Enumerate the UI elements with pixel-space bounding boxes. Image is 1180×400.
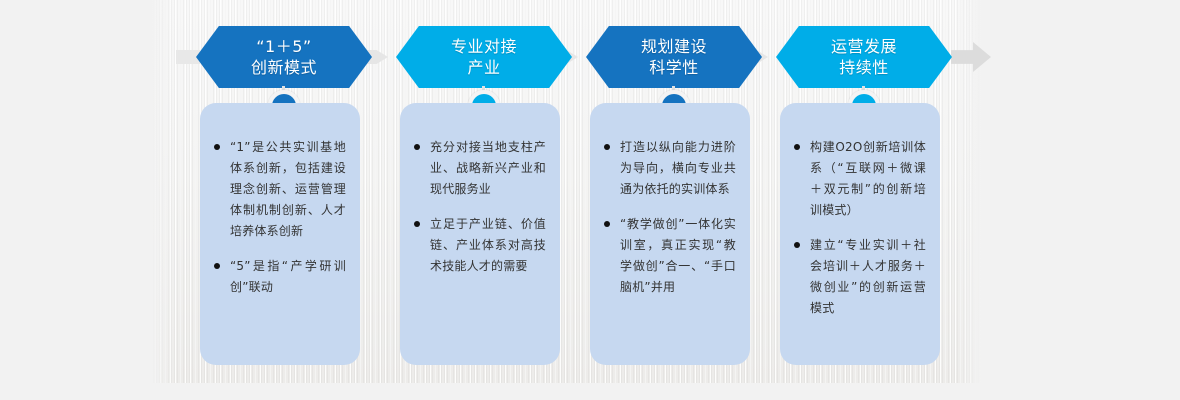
list-item: “教学做创”一体化实训室，真正实现“教学做创”合一、“手口脑机”并用 bbox=[600, 214, 736, 298]
list-item: “5”是指“产学研训创”联动 bbox=[210, 256, 346, 298]
bullet-dot-icon bbox=[214, 144, 220, 150]
stage-header-2-line-1: 专业对接 bbox=[451, 36, 517, 57]
stage-card-3: 打造以纵向能力进阶为导向，横向专业共通为依托的实训体系 “教学做创”一体化实训室… bbox=[590, 103, 750, 365]
bullet-dot-icon bbox=[604, 221, 610, 227]
stage-header-3[interactable]: 规划建设 科学性 bbox=[586, 26, 762, 88]
bullet-dot-icon bbox=[214, 263, 220, 269]
bullet-text: 构建O2O创新培训体系（“互联网＋微课＋双元制”的创新培训模式） bbox=[810, 140, 926, 217]
stage-card-3-bullet-list: 打造以纵向能力进阶为导向，横向专业共通为依托的实训体系 “教学做创”一体化实训室… bbox=[600, 137, 736, 298]
stage-card-2-bullet-list: 充分对接当地支柱产业、战略新兴产业和现代服务业 立足于产业链、价值链、产业体系对… bbox=[410, 137, 546, 277]
stage-card-1: “1”是公共实训基地体系创新，包括建设理念创新、运营管理体制机制创新、人才培养体… bbox=[200, 103, 360, 365]
list-item: 建立“专业实训＋社会培训＋人才服务＋微创业”的创新运营模式 bbox=[790, 235, 926, 319]
stage-header-2-line-2: 产业 bbox=[467, 57, 500, 78]
bullet-text: “教学做创”一体化实训室，真正实现“教学做创”合一、“手口脑机”并用 bbox=[620, 217, 736, 294]
bullet-dot-icon bbox=[604, 144, 610, 150]
bullet-text: “1”是公共实训基地体系创新，包括建设理念创新、运营管理体制机制创新、人才培养体… bbox=[230, 140, 346, 238]
bullet-dot-icon bbox=[794, 144, 800, 150]
stage-header-1-line-2: 创新模式 bbox=[251, 57, 317, 78]
list-item: 构建O2O创新培训体系（“互联网＋微课＋双元制”的创新培训模式） bbox=[790, 137, 926, 221]
bullet-dot-icon bbox=[414, 144, 420, 150]
bullet-text: 充分对接当地支柱产业、战略新兴产业和现代服务业 bbox=[430, 140, 546, 196]
bullet-dot-icon bbox=[794, 242, 800, 248]
stage-header-4-line-2: 持续性 bbox=[839, 57, 889, 78]
stage-header-3-line-1: 规划建设 bbox=[641, 36, 707, 57]
stage-card-2: 充分对接当地支柱产业、战略新兴产业和现代服务业 立足于产业链、价值链、产业体系对… bbox=[400, 103, 560, 365]
band-fade-left bbox=[150, 0, 176, 383]
bullet-dot-icon bbox=[414, 221, 420, 227]
bullet-text: 打造以纵向能力进阶为导向，横向专业共通为依托的实训体系 bbox=[620, 140, 736, 196]
process-flow-diagram: “1＋5” 创新模式 “1”是公共实训基地体系创新，包括建设理念创新、运营管理体… bbox=[0, 0, 1180, 400]
stage-header-2[interactable]: 专业对接 产业 bbox=[396, 26, 572, 88]
bullet-text: “5”是指“产学研训创”联动 bbox=[230, 259, 346, 294]
list-item: “1”是公共实训基地体系创新，包括建设理念创新、运营管理体制机制创新、人才培养体… bbox=[210, 137, 346, 242]
stage-card-1-bullet-list: “1”是公共实训基地体系创新，包括建设理念创新、运营管理体制机制创新、人才培养体… bbox=[210, 137, 346, 298]
stage-card-4: 构建O2O创新培训体系（“互联网＋微课＋双元制”的创新培训模式） 建立“专业实训… bbox=[780, 103, 940, 365]
list-item: 充分对接当地支柱产业、战略新兴产业和现代服务业 bbox=[410, 137, 546, 200]
list-item: 打造以纵向能力进阶为导向，横向专业共通为依托的实训体系 bbox=[600, 137, 736, 200]
bullet-text: 立足于产业链、价值链、产业体系对高技术技能人才的需要 bbox=[430, 217, 546, 273]
stage-header-4-line-1: 运营发展 bbox=[831, 36, 897, 57]
stage-header-1[interactable]: “1＋5” 创新模式 bbox=[196, 26, 372, 88]
stage-header-3-line-2: 科学性 bbox=[649, 57, 699, 78]
stage-card-4-bullet-list: 构建O2O创新培训体系（“互联网＋微课＋双元制”的创新培训模式） 建立“专业实训… bbox=[790, 137, 926, 319]
list-item: 立足于产业链、价值链、产业体系对高技术技能人才的需要 bbox=[410, 214, 546, 277]
stage-header-4[interactable]: 运营发展 持续性 bbox=[776, 26, 952, 88]
bullet-text: 建立“专业实训＋社会培训＋人才服务＋微创业”的创新运营模式 bbox=[810, 238, 926, 315]
stage-header-1-line-1: “1＋5” bbox=[256, 36, 311, 57]
